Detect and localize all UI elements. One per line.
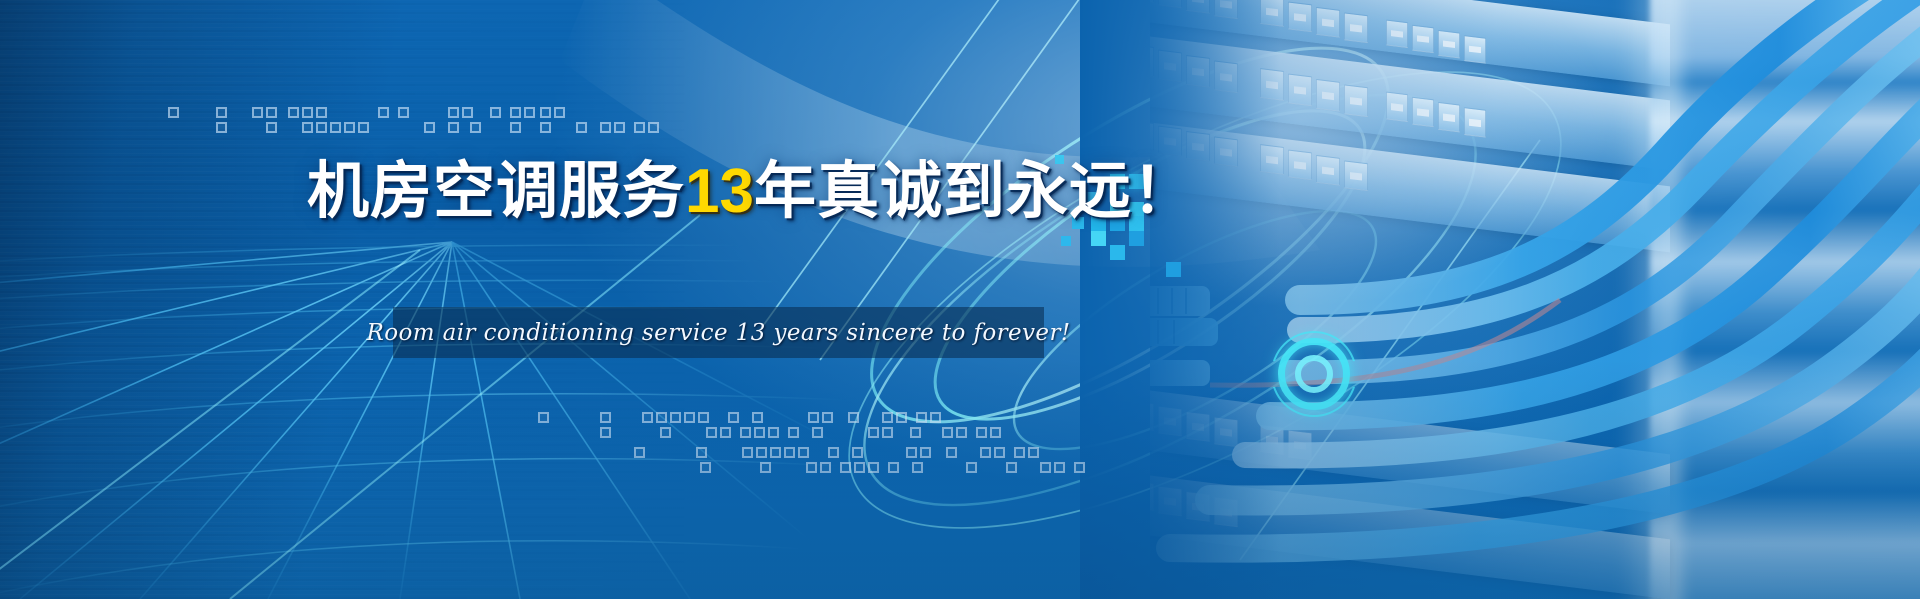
hero-banner: 机房空调服务13年真诚到永远！ Room air conditioning se… [0, 0, 1920, 599]
bottom-vignette [0, 0, 1920, 599]
